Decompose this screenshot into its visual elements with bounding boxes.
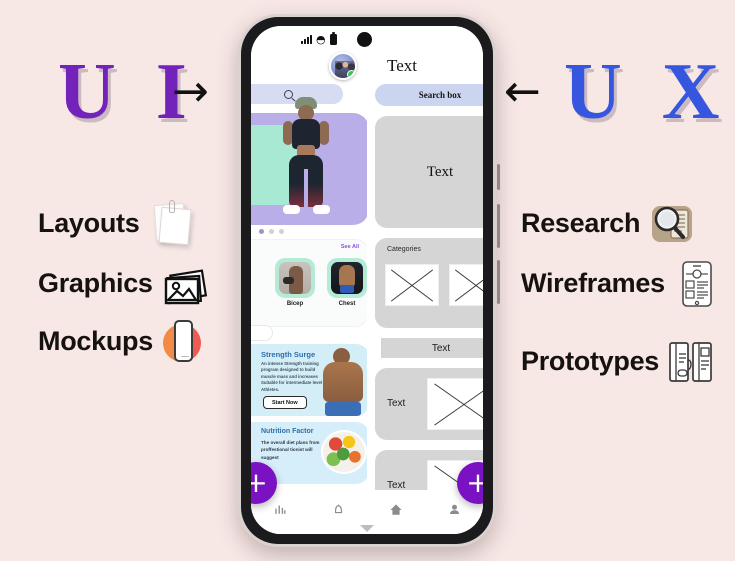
ux-item-wireframes: Wireframes <box>521 260 719 306</box>
phone-side-button-power[interactable] <box>497 260 500 304</box>
exercise-card-chest[interactable] <box>327 258 367 298</box>
wireframe-hero-block: Text <box>375 116 483 228</box>
nutrition-title: Nutrition Factor <box>261 428 314 435</box>
carousel-dots[interactable] <box>259 229 284 234</box>
nutrition-body: The overall diet plans from proffestiona… <box>261 439 327 461</box>
person-icon[interactable] <box>447 502 462 522</box>
image-placeholder <box>449 264 483 306</box>
strength-body: An intense Strength training program des… <box>261 361 327 393</box>
phone-mockup-icon <box>161 318 207 364</box>
linked-screens-icon <box>667 338 713 384</box>
exercise-label-bicep: Bicep <box>275 301 315 307</box>
wireframe-search-box[interactable]: Search box <box>375 84 483 106</box>
signal-bars-icon <box>301 35 312 44</box>
ui-item-layouts-label: Layouts <box>38 208 139 239</box>
image-placeholder <box>385 264 439 306</box>
phone-mockup: ◓ <box>238 14 496 547</box>
wireframe-row: Text <box>375 368 483 440</box>
wireframe-half: Text Search box Text Categories Text Tex… <box>367 26 483 534</box>
bell-icon[interactable] <box>331 502 346 522</box>
wireframe-categories-label: Categories <box>387 246 421 253</box>
ux-wordmark: U X <box>564 52 730 132</box>
see-all-link[interactable]: See All <box>341 244 359 250</box>
ui-item-layouts: Layouts <box>38 200 193 246</box>
online-status-dot <box>347 70 356 79</box>
phone-side-button-volume[interactable] <box>497 204 500 248</box>
magnifier-document-icon <box>648 200 694 246</box>
phone-bezel: ◓ <box>241 17 493 544</box>
ux-item-research-label: Research <box>521 208 640 239</box>
start-now-button[interactable]: Start Now <box>263 396 307 409</box>
salad-bowl-image <box>321 430 367 474</box>
wireframe-row-label: Text <box>387 398 405 409</box>
ui-item-mockups-label: Mockups <box>38 326 153 357</box>
ux-item-prototypes-label: Prototypes <box>521 346 659 377</box>
phone-side-button-mute[interactable] <box>497 164 500 190</box>
home-indicator <box>360 525 374 532</box>
ux-item-prototypes: Prototypes <box>521 338 713 384</box>
strength-title: Strength Surge <box>261 350 315 359</box>
wifi-icon: ◓ <box>316 34 326 45</box>
arrow-right-icon: → <box>172 70 209 114</box>
battery-icon <box>330 34 337 45</box>
exercise-card-bicep[interactable] <box>275 258 315 298</box>
infographic-canvas: U I → ← U X Layouts Graphics Mockups Res… <box>0 0 735 561</box>
ui-item-graphics-label: Graphics <box>38 268 153 299</box>
image-placeholder <box>427 378 483 430</box>
wireframe-heading: Text <box>387 56 417 76</box>
wireframe-text-bar: Text <box>381 338 483 358</box>
ui-item-mockups: Mockups <box>38 318 207 364</box>
note-paper-icon <box>147 200 193 246</box>
photo-stack-icon <box>161 260 207 306</box>
ux-item-research: Research <box>521 200 694 246</box>
bodybuilder-illustration <box>321 346 367 416</box>
ui-design-half: lan cardio Sqauts, See All <box>251 26 367 534</box>
chart-icon[interactable] <box>272 502 288 523</box>
exercise-label-chest: Chest <box>327 301 367 307</box>
home-icon[interactable] <box>388 502 404 523</box>
filter-chip[interactable] <box>251 325 273 341</box>
phone-screen: ◓ <box>251 26 483 534</box>
ux-item-wireframes-label: Wireframes <box>521 268 665 299</box>
strength-surge-card[interactable]: Strength Surge An intense Strength train… <box>251 344 367 416</box>
athlete-illustration <box>275 97 337 225</box>
punch-hole-camera <box>357 32 372 47</box>
phone-wireframe-icon <box>673 260 719 306</box>
wireframe-categories-block: Categories <box>375 238 483 328</box>
user-avatar[interactable] <box>329 52 357 80</box>
ui-item-graphics: Graphics <box>38 260 207 306</box>
arrow-left-icon: ← <box>504 70 541 114</box>
